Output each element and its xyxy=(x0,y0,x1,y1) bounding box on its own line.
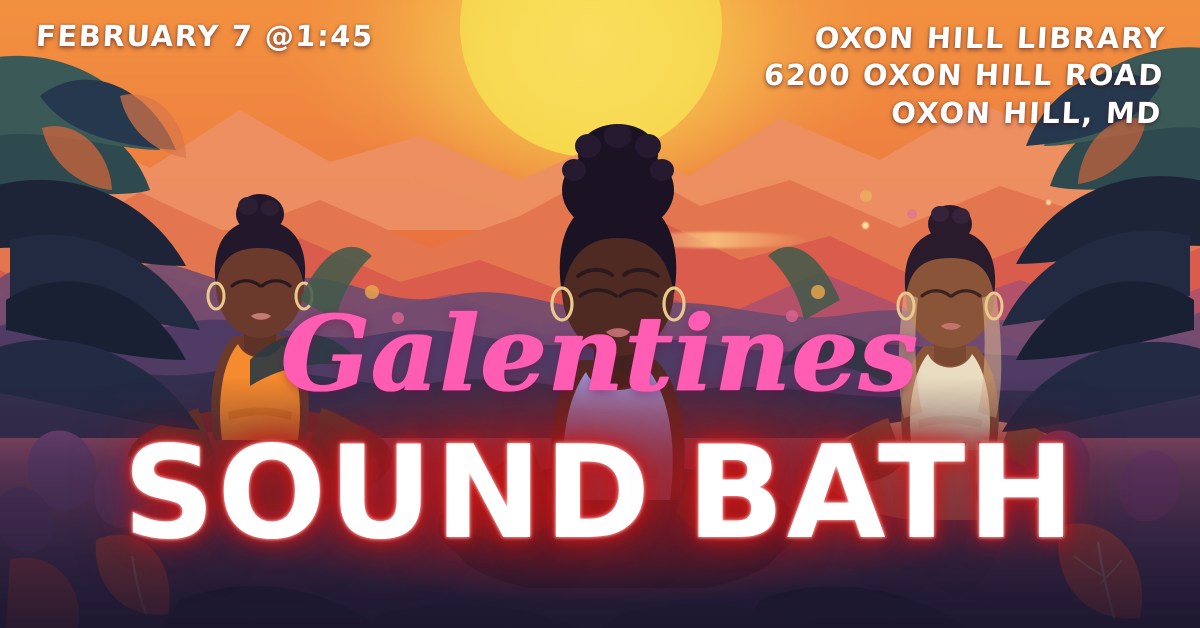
event-datetime-text: FEBRUARY 7 @1:45 xyxy=(35,22,374,51)
venue-city-state: OXON HILL, MD xyxy=(761,95,1163,132)
main-title-word-bath: BATH xyxy=(687,430,1077,558)
main-title-word-sound: SOUND xyxy=(123,430,653,558)
venue-address-block: OXON HILL LIBRARY 6200 OXON HILL ROAD OX… xyxy=(761,20,1167,132)
script-title-galentines: Galentines xyxy=(0,302,1200,406)
main-title-sound-bath: SOUNDBATH xyxy=(0,430,1200,558)
venue-name: OXON HILL LIBRARY xyxy=(765,20,1167,57)
venue-street: 6200 OXON HILL ROAD xyxy=(763,57,1165,94)
event-poster: FEBRUARY 7 @1:45 OXON HILL LIBRARY 6200 … xyxy=(0,0,1200,628)
